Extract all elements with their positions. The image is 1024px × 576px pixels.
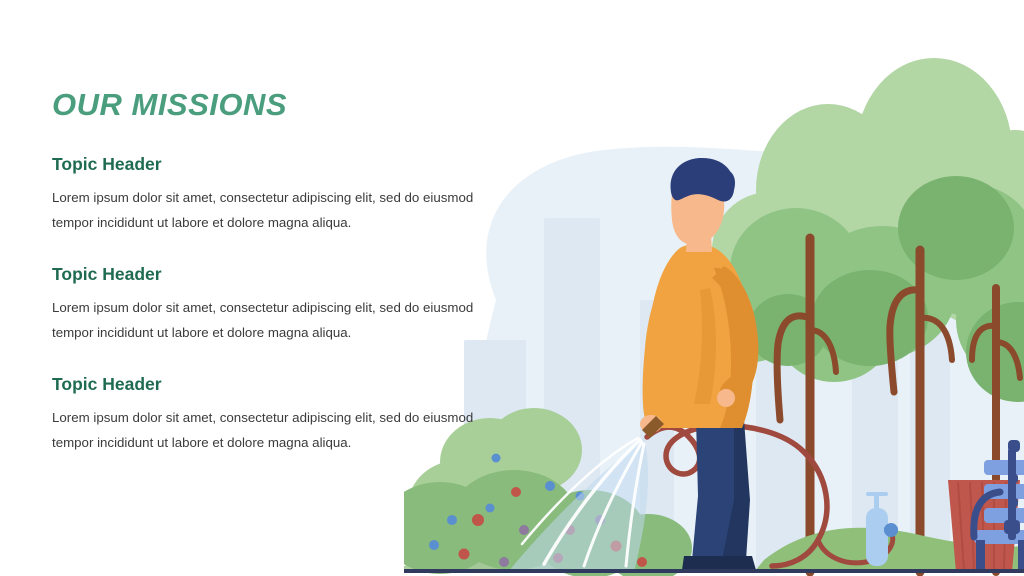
topic-block-1: Topic Header Lorem ipsum dolor sit amet,… bbox=[52, 154, 482, 235]
topic-header-2: Topic Header bbox=[52, 264, 482, 285]
ground-line bbox=[404, 569, 1024, 573]
topic-block-2: Topic Header Lorem ipsum dolor sit amet,… bbox=[52, 264, 482, 345]
topic-body-3: Lorem ipsum dolor sit amet, consectetur … bbox=[52, 406, 477, 455]
topic-body-2: Lorem ipsum dolor sit amet, consectetur … bbox=[52, 296, 477, 345]
person-back-hand bbox=[717, 389, 735, 407]
page-title: OUR MISSIONS bbox=[52, 88, 482, 122]
topic-block-3: Topic Header Lorem ipsum dolor sit amet,… bbox=[52, 374, 482, 455]
content-column: OUR MISSIONS Topic Header Lorem ipsum do… bbox=[52, 88, 482, 456]
person-front-shoe bbox=[682, 556, 728, 570]
topic-header-1: Topic Header bbox=[52, 154, 482, 175]
topic-body-1: Lorem ipsum dolor sit amet, consectetur … bbox=[52, 186, 477, 235]
slide-our-missions: OUR MISSIONS Topic Header Lorem ipsum do… bbox=[0, 0, 1024, 576]
illustration-man-watering-plants bbox=[404, 0, 1024, 576]
topic-header-3: Topic Header bbox=[52, 374, 482, 395]
